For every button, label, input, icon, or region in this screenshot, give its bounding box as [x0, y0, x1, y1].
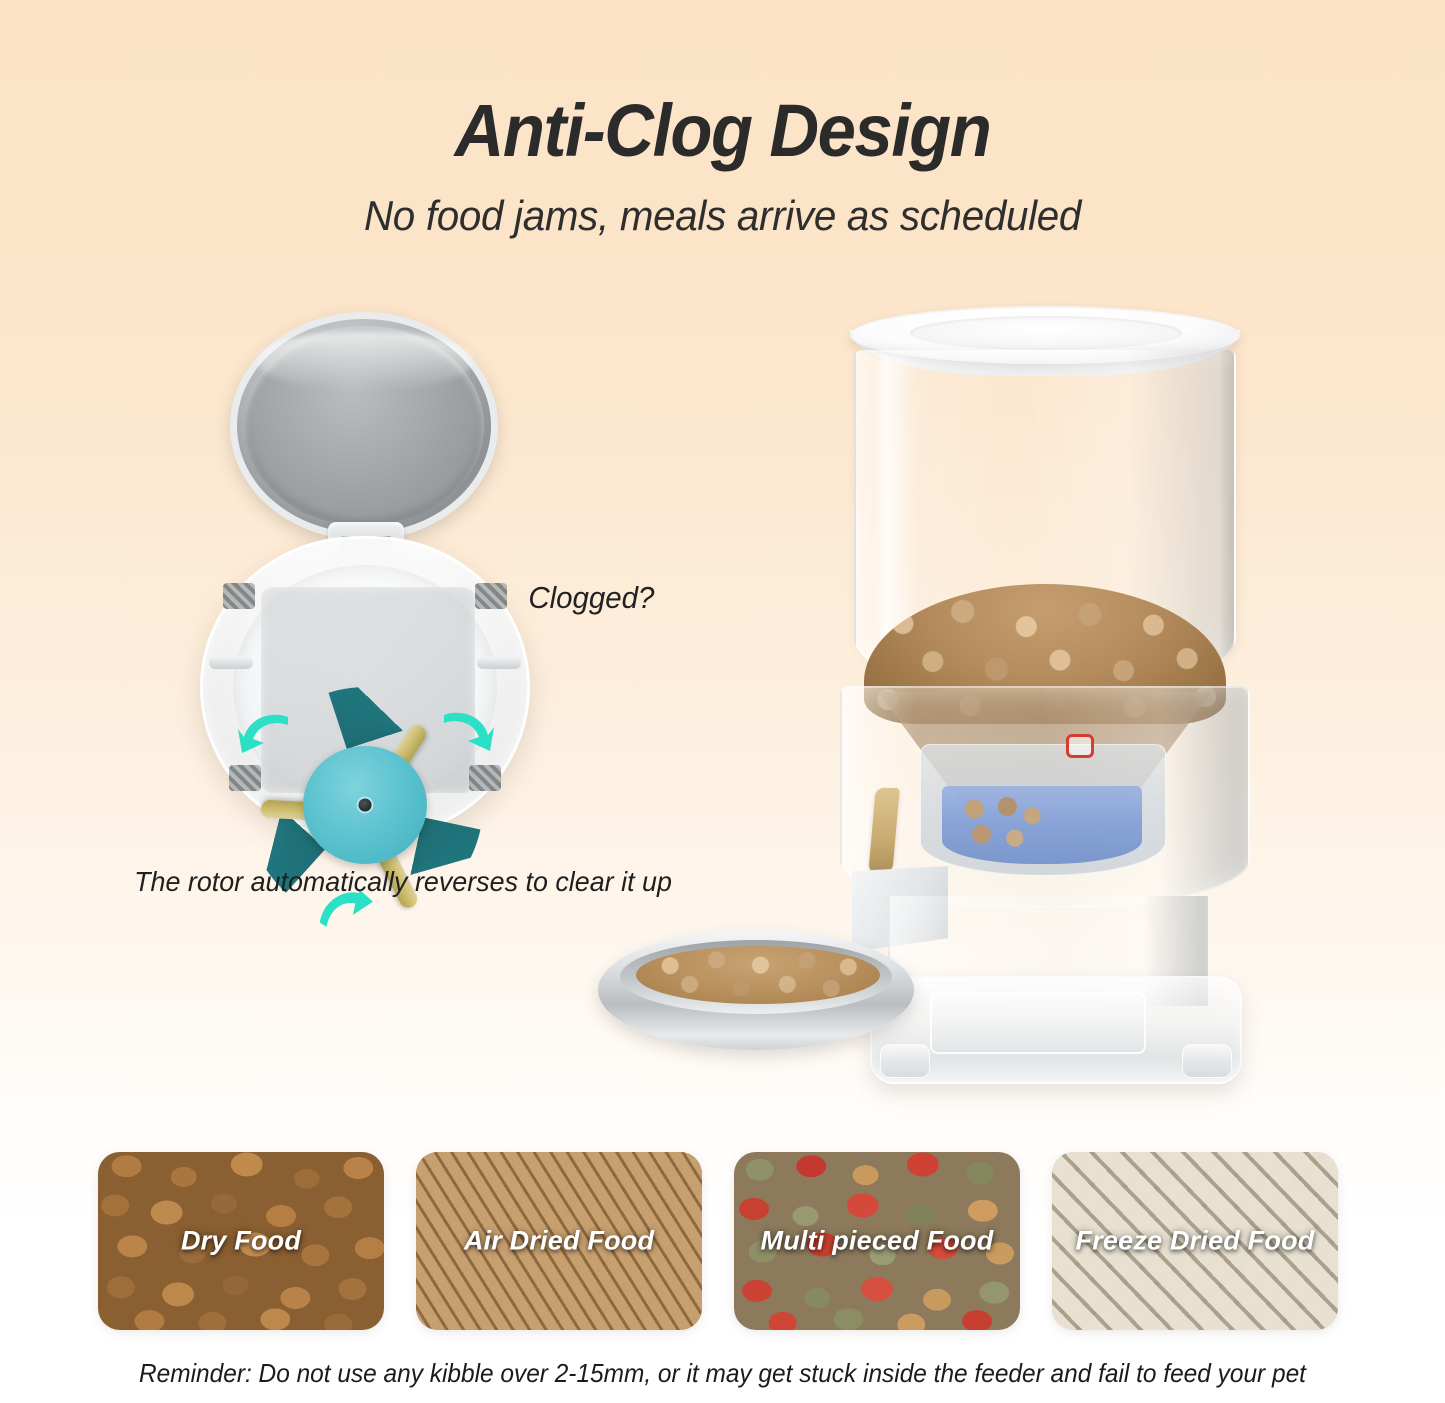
feeder-housing-top-view: [200, 536, 530, 838]
food-card-label: Air Dried Food: [416, 1226, 702, 1257]
reminder-text: Reminder: Do not use any kibble over 2-1…: [43, 1358, 1401, 1389]
automatic-pet-feeder-image: [588, 300, 1288, 1090]
base-foot: [1182, 1044, 1232, 1078]
vent-icon: [223, 583, 255, 609]
rotor-axle: [359, 799, 372, 812]
metal-lid-icon: [230, 312, 498, 540]
food-card-label: Multi pieced Food: [734, 1226, 1020, 1257]
vent-icon: [475, 583, 507, 609]
bowl-interior: [620, 940, 892, 1014]
food-type-gallery: Dry Food Air Dried Food Multi pieced Foo…: [98, 1152, 1338, 1332]
page-title: Anti-Clog Design: [51, 88, 1395, 173]
food-card-label: Freeze Dried Food: [1052, 1226, 1338, 1257]
bowl-kibble: [636, 946, 880, 1004]
housing-tab: [477, 657, 521, 669]
rotation-arrow-icon: [238, 709, 292, 755]
stainless-steel-bowl: [598, 930, 914, 1050]
rotation-arrow-icon: [440, 707, 494, 753]
food-card-label: Dry Food: [98, 1226, 384, 1257]
food-card-freeze-dried[interactable]: Freeze Dried Food: [1052, 1152, 1338, 1330]
product-infographic: Anti-Clog Design No food jams, meals arr…: [0, 0, 1445, 1403]
base-foot: [880, 1044, 930, 1078]
rotor-kibble: [954, 792, 1046, 858]
food-card-multi-pieced[interactable]: Multi pieced Food: [734, 1152, 1020, 1330]
food-card-air-dried[interactable]: Air Dried Food: [416, 1152, 702, 1330]
base-ridge: [930, 992, 1146, 1054]
rotor-illustration: Clogged? The rotor automatically reverse…: [178, 300, 548, 860]
feeder-base: [870, 976, 1242, 1084]
housing-tab: [209, 657, 253, 669]
page-subtitle: No food jams, meals arrive as scheduled: [29, 192, 1416, 240]
food-card-dry[interactable]: Dry Food: [98, 1152, 384, 1330]
red-indicator-tab: [1066, 734, 1094, 758]
